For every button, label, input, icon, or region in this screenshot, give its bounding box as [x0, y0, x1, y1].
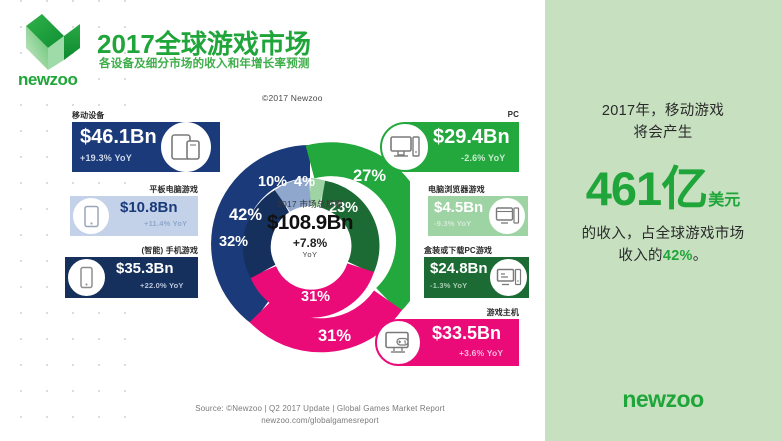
stat-card-pc-yoy: -2.6% YoY	[461, 153, 505, 163]
inner-pct-browser: 4%	[294, 174, 315, 190]
desktop-computer-icon	[380, 122, 430, 172]
donut-center-growth-unit: YoY	[255, 250, 365, 259]
stat-card-tablet-yoy: +11.4% YoY	[144, 219, 187, 228]
highlight-line-3: 的收入，占全球游戏市场	[545, 223, 781, 245]
footer: Source: ©Newzoo | Q2 2017 Update | Globa…	[150, 403, 490, 427]
inner-pct-tablet: 10%	[258, 174, 287, 190]
stat-card-console-yoy: +3.6% YoY	[459, 348, 503, 358]
newzoo-wordmark: newzoo	[18, 70, 96, 90]
stat-card-browser-amount: $4.5Bn	[434, 199, 483, 216]
stat-card-smartphone-caption: (智能) 手机游戏	[94, 245, 198, 256]
highlight-line-4: 收入的42%。	[545, 245, 781, 267]
stat-card-tablet-caption: 平板电脑游戏	[106, 184, 198, 195]
stat-card-mobile-caption: 移动设备	[72, 110, 104, 121]
highlight-share-pct: 42%	[663, 248, 693, 264]
highlight-line-1: 2017年，移动游戏	[545, 100, 781, 122]
page-subtitle: 各设备及细分市场的收入和年增长率预测	[99, 55, 310, 71]
highlight-big-stat: 461亿美元	[545, 150, 781, 219]
stat-card-console-caption: 游戏主机	[414, 307, 519, 318]
stat-card-smartphone-yoy: +22.0% YoY	[140, 281, 184, 290]
infographic-root: newzoo 2017全球游戏市场 各设备及细分市场的收入和年增长率预测 ©20…	[0, 0, 781, 441]
panel-newzoo-wordmark: newzoo	[545, 386, 781, 413]
newzoo-logo-icon	[22, 14, 88, 70]
highlight-line-4-prefix: 收入的	[618, 248, 662, 264]
donut-center-caption: 2017 市场总规模	[255, 198, 365, 210]
copyright-notice: ©2017 Newzoo	[262, 93, 323, 103]
highlight-currency-unit: 美元	[708, 192, 740, 209]
outer-pct-console: 31%	[318, 327, 351, 346]
stat-card-boxed-yoy: -1.3% YoY	[430, 281, 467, 290]
smartphone-icon	[66, 257, 107, 298]
tv-gamepad-icon	[375, 319, 422, 366]
stat-card-browser-caption: 电脑浏览器游戏	[428, 184, 485, 195]
tablet-icon	[71, 196, 111, 236]
stat-card-mobile-amount: $46.1Bn	[80, 126, 157, 149]
stat-card-tablet-amount: $10.8Bn	[120, 199, 178, 216]
highlight-panel: 2017年，移动游戏 将会产生 461亿美元 的收入，占全球游戏市场 收入的42…	[545, 0, 781, 441]
tablet-and-phone-icon	[161, 122, 211, 172]
highlight-line-2: 将会产生	[545, 122, 781, 144]
donut-center-summary: 2017 市场总规模 $108.9Bn +7.8% YoY	[255, 198, 365, 259]
donut-center-growth: +7.8%	[255, 236, 365, 250]
inner-pct-console: 31%	[301, 289, 330, 305]
stat-card-console-amount: $33.5Bn	[432, 323, 501, 344]
stat-card-boxed-amount: $24.8Bn	[430, 260, 488, 277]
highlight-big-number: 461亿	[586, 162, 707, 215]
footer-source: Source: ©Newzoo | Q2 2017 Update | Globa…	[150, 403, 490, 415]
outer-pct-pc: 27%	[353, 167, 386, 186]
stat-card-pc-amount: $29.4Bn	[433, 126, 510, 149]
stat-card-smartphone-amount: $35.3Bn	[116, 260, 174, 277]
stat-card-boxed-caption: 盒装或下载PC游戏	[424, 245, 492, 256]
donut-center-value: $108.9Bn	[255, 211, 365, 235]
highlight-line-4-suffix: 。	[693, 248, 708, 264]
footer-url[interactable]: newzoo.com/globalgamesreport	[150, 415, 490, 427]
pc-tower-icon	[488, 257, 529, 298]
inner-pct-smartphone: 32%	[219, 234, 248, 250]
stat-card-browser-yoy: -9.3% YoY	[434, 219, 471, 228]
stat-card-pc-caption: PC	[420, 110, 519, 119]
stat-card-mobile-yoy: +19.3% YoY	[80, 153, 132, 163]
browser-monitor-icon	[487, 196, 527, 236]
